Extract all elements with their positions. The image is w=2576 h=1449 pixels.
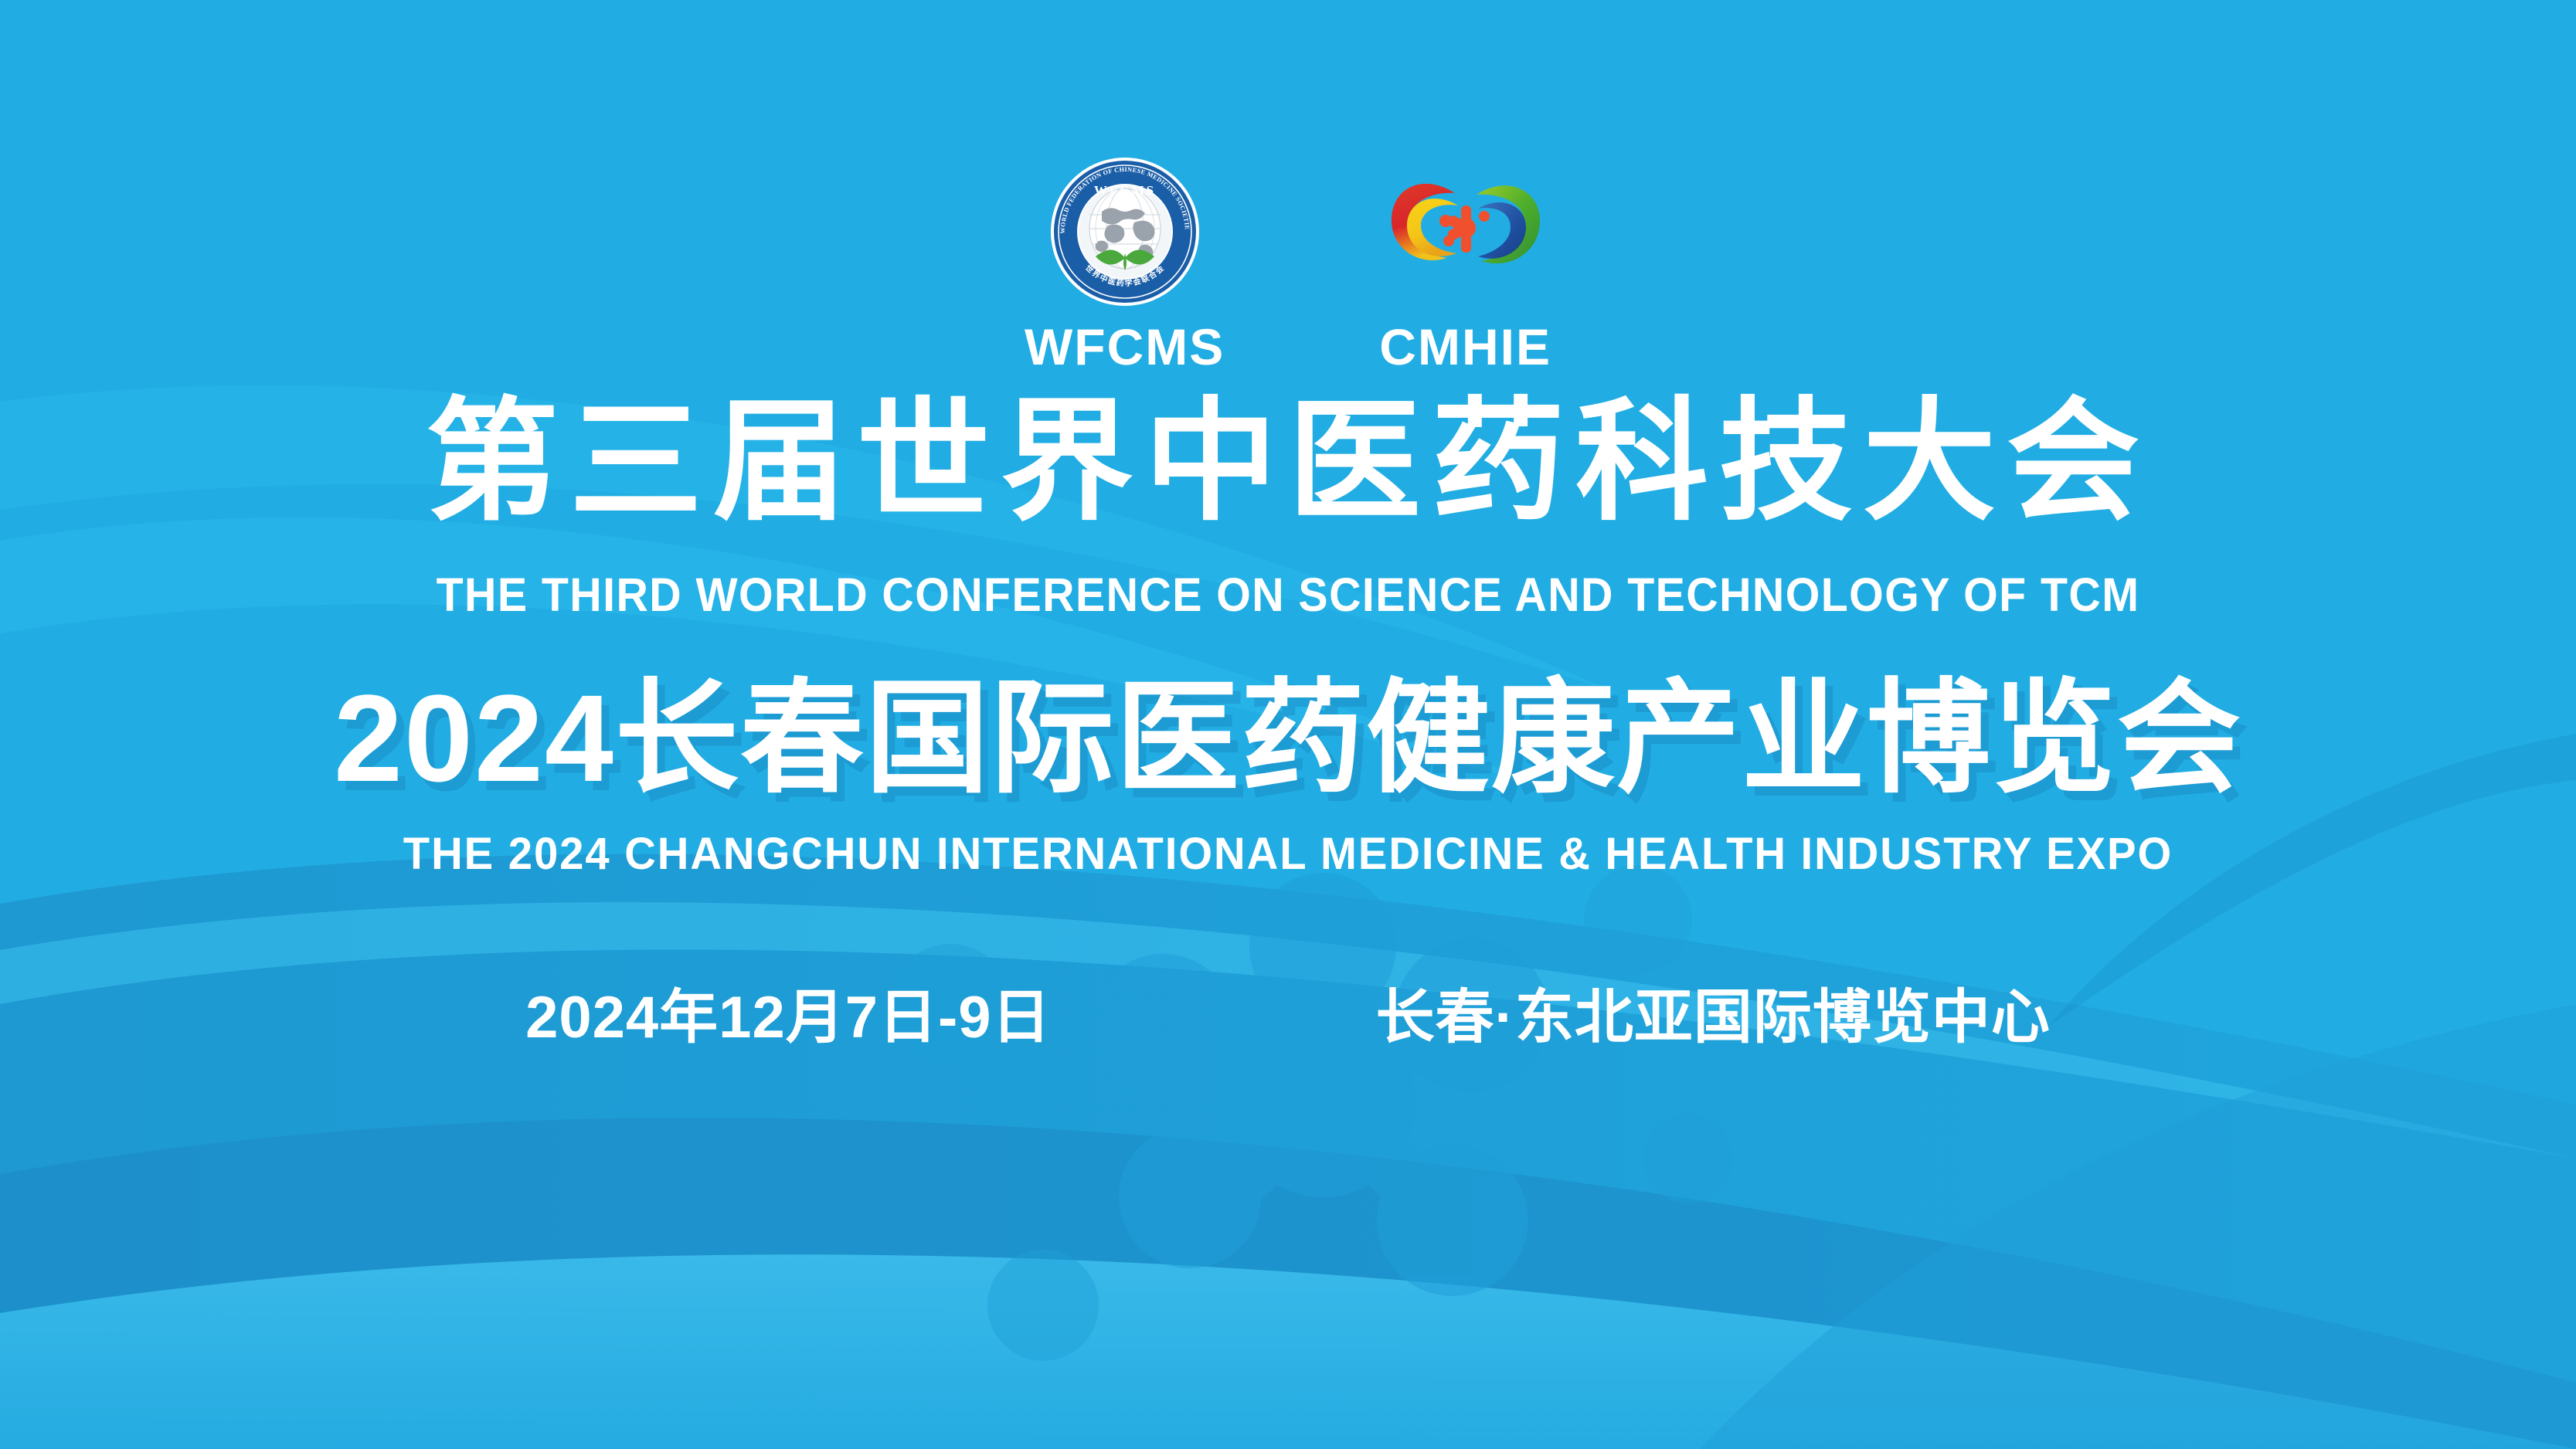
svg-text:WFCMS: WFCMS	[1094, 183, 1156, 198]
event-date: 2024年12月7日-9日	[525, 989, 1051, 1047]
conference-title-en: THE THIRD WORLD CONFERENCE ON SCIENCE AN…	[77, 572, 2499, 619]
conference-title-cn: 第三届世界中医药科技大会	[0, 392, 2576, 532]
expo-title-cn: 2024长春国际医药健康产业博览会	[0, 674, 2576, 803]
cmhie-caption: CMHIE	[1379, 321, 1551, 372]
event-info-row: 2024年12月7日-9日 长春·东北亚国际博览中心	[0, 989, 2576, 1047]
cmhie-ribbon-icon	[1381, 147, 1551, 317]
event-venue: 长春·东北亚国际博览中心	[1376, 989, 2051, 1047]
expo-title-en: THE 2024 CHANGCHUN INTERNATIONAL MEDICIN…	[39, 832, 2537, 877]
logo-row: WFCMS WORLD FEDERATION OF CHINESE MEDICI…	[0, 147, 2576, 372]
wfcms-emblem-icon: WFCMS WORLD FEDERATION OF CHINESE MEDICI…	[1040, 147, 1210, 317]
logo-cmhie: CMHIE	[1379, 147, 1551, 372]
conference-banner: WFCMS WORLD FEDERATION OF CHINESE MEDICI…	[0, 0, 2576, 1449]
wfcms-caption: WFCMS	[1025, 321, 1225, 372]
logo-wfcms: WFCMS WORLD FEDERATION OF CHINESE MEDICI…	[1025, 147, 1225, 372]
